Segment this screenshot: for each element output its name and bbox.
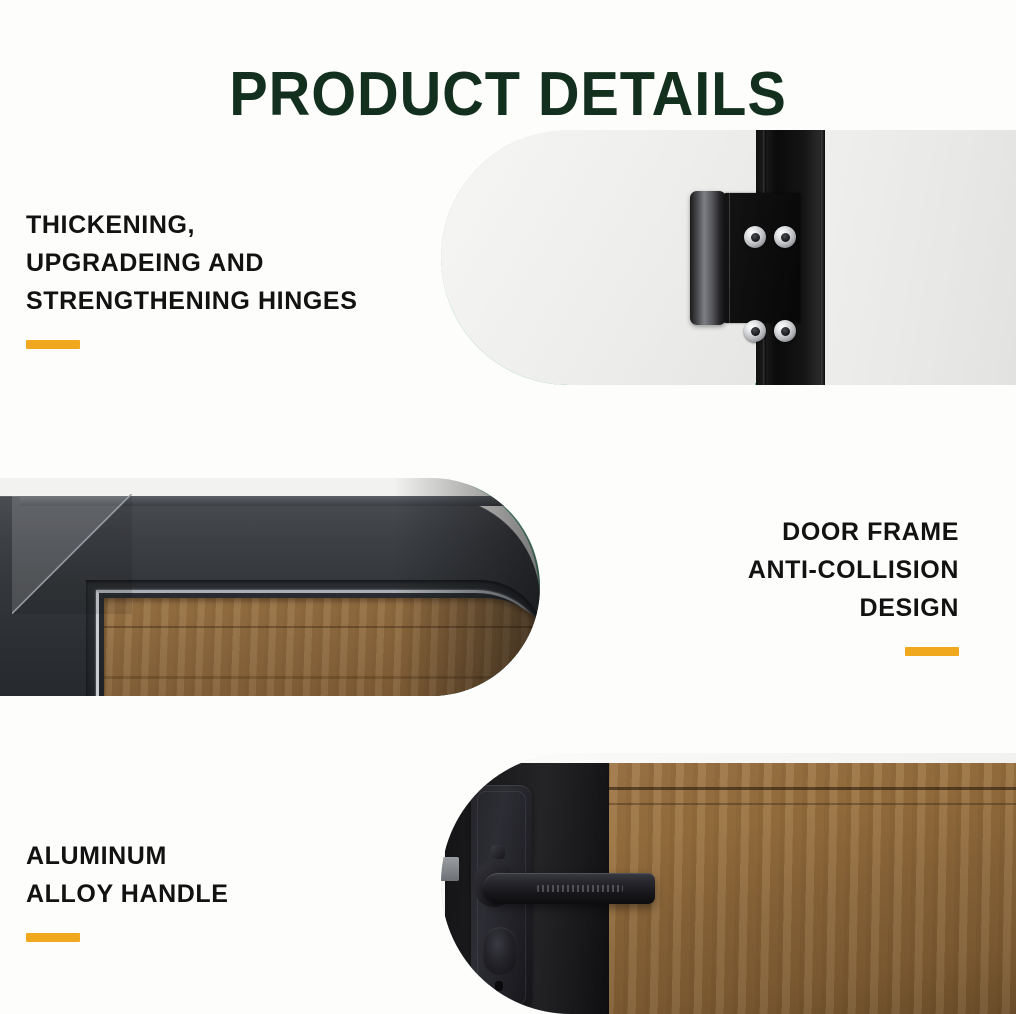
product-details-page: PRODUCT DETAILS — [0, 0, 1016, 1014]
caption-line: ANTI-COLLISION — [748, 551, 959, 589]
caption-line: ALLOY HANDLE — [26, 875, 229, 913]
hinge-screw-icon — [744, 320, 766, 342]
caption-door-frame: DOOR FRAME ANTI-COLLISION DESIGN — [748, 513, 959, 656]
caption-line: DOOR FRAME — [748, 513, 959, 551]
latch-bolt-icon — [441, 857, 459, 881]
caption-line: THICKENING, — [26, 206, 357, 244]
wood-door-face — [605, 763, 1016, 1014]
door-lock-stile — [445, 763, 609, 1014]
accent-bar — [905, 647, 959, 656]
caption-line: DESIGN — [748, 589, 959, 627]
hinge-leaf-plate — [724, 193, 800, 323]
accent-bar — [26, 340, 80, 349]
panel-handle-photo — [441, 753, 1016, 1014]
door-leaf-right — [821, 130, 1016, 385]
panel-door-frame-photo — [0, 478, 540, 696]
hinge-screw-icon — [774, 320, 796, 342]
frame-top-bevel — [20, 496, 540, 506]
hinge-barrel-icon — [690, 191, 726, 325]
caption-hinges: THICKENING, UPGRADEING AND STRENGTHENING… — [26, 206, 357, 349]
keyhole-icon — [495, 981, 503, 991]
lever-grip-texture — [537, 885, 623, 892]
handle-scene — [441, 753, 1016, 1014]
jamb-edge — [821, 130, 825, 385]
hinge-scene — [441, 130, 1016, 385]
lever-handle-icon — [483, 873, 655, 904]
hinge-screw-icon — [744, 226, 766, 248]
wood-grain-panel — [104, 598, 540, 696]
door-frame-scene — [0, 478, 540, 696]
caption-line: STRENGTHENING HINGES — [26, 282, 357, 320]
caption-handle: ALUMINUM ALLOY HANDLE — [26, 837, 229, 942]
key-cylinder-icon — [483, 927, 517, 975]
page-title: PRODUCT DETAILS — [36, 64, 981, 126]
panel-hinge-photo — [441, 130, 1016, 385]
caption-line: ALUMINUM — [26, 837, 229, 875]
escutcheon-indicator-icon — [491, 845, 505, 859]
caption-line: UPGRADEING AND — [26, 244, 357, 282]
accent-bar — [26, 933, 80, 942]
hinge-screw-icon — [774, 226, 796, 248]
